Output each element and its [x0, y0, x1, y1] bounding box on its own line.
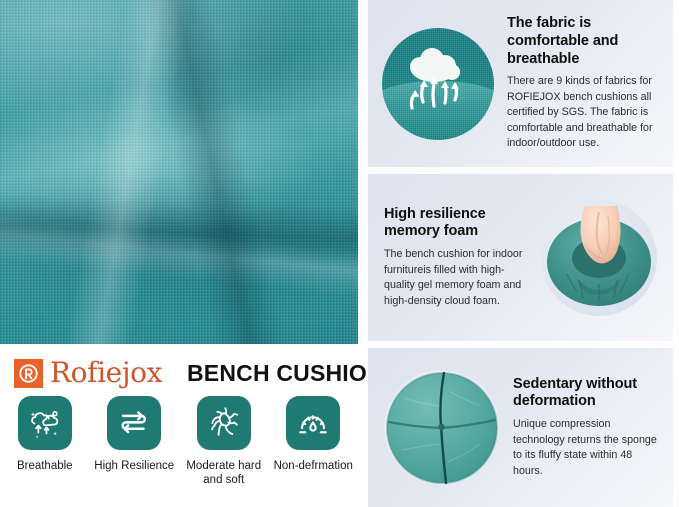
panel-text-block: Sedentary without deformation Unique com… [500, 376, 673, 479]
panel-text-block: The fabric is comfortable and breathable… [494, 15, 673, 152]
tufted-round-cushion-circle [384, 370, 500, 486]
right-column: The fabric is comfortable and breathable… [368, 0, 673, 507]
r-monogram-icon [14, 359, 43, 388]
product-type-label: BENCH CUSHION [187, 360, 384, 387]
hero-fabric-photo [0, 0, 358, 344]
feature-item: Breathable [0, 396, 90, 488]
feature-item: High Resilience [90, 396, 180, 488]
breathable-cloud-arrows-icon [18, 396, 72, 450]
gauge-icon [286, 396, 340, 450]
panel-title: The fabric is comfortable and breathable [507, 15, 659, 68]
panel-title: High resilience memory foam [384, 206, 535, 241]
feature-label: Non-defrmation [274, 459, 353, 473]
product-infographic: Rofiejox BENCH CUSHION [0, 0, 679, 507]
feature-panel-memory-foam: High resilience memory foam The bench cu… [368, 174, 673, 341]
feature-icon-row: Breathable High Resilience [0, 396, 358, 488]
left-column: Rofiejox BENCH CUSHION [0, 0, 360, 507]
panel-body: Unique compression technology returns th… [513, 417, 659, 479]
mesh-web-icon [197, 396, 251, 450]
resilience-arrows-icon [107, 396, 161, 450]
feature-label: High Resilience [94, 459, 174, 473]
panel-text-block: High resilience memory foam The bench cu… [368, 206, 541, 309]
feature-label: Breathable [17, 459, 73, 473]
feature-panel-fabric: The fabric is comfortable and breathable… [368, 0, 673, 167]
panel-title: Sedentary without deformation [513, 376, 659, 411]
feature-item: Moderate hard and soft [179, 396, 269, 488]
brand-name: Rofiejox [50, 359, 162, 387]
panel-body: The bench cushion for indoor furnitureis… [384, 247, 535, 309]
fabric-cloud-airflow-circle [382, 28, 494, 140]
brand-lockup: Rofiejox BENCH CUSHION [0, 352, 358, 394]
feature-panel-no-deformation: Sedentary without deformation Unique com… [368, 348, 673, 507]
feature-label: Moderate hard and soft [179, 459, 269, 488]
panel-body: There are 9 kinds of fabrics for ROFIEJO… [507, 74, 659, 152]
feature-item: Non-defrmation [269, 396, 359, 488]
hand-pressing-cushion-circle [541, 200, 657, 316]
